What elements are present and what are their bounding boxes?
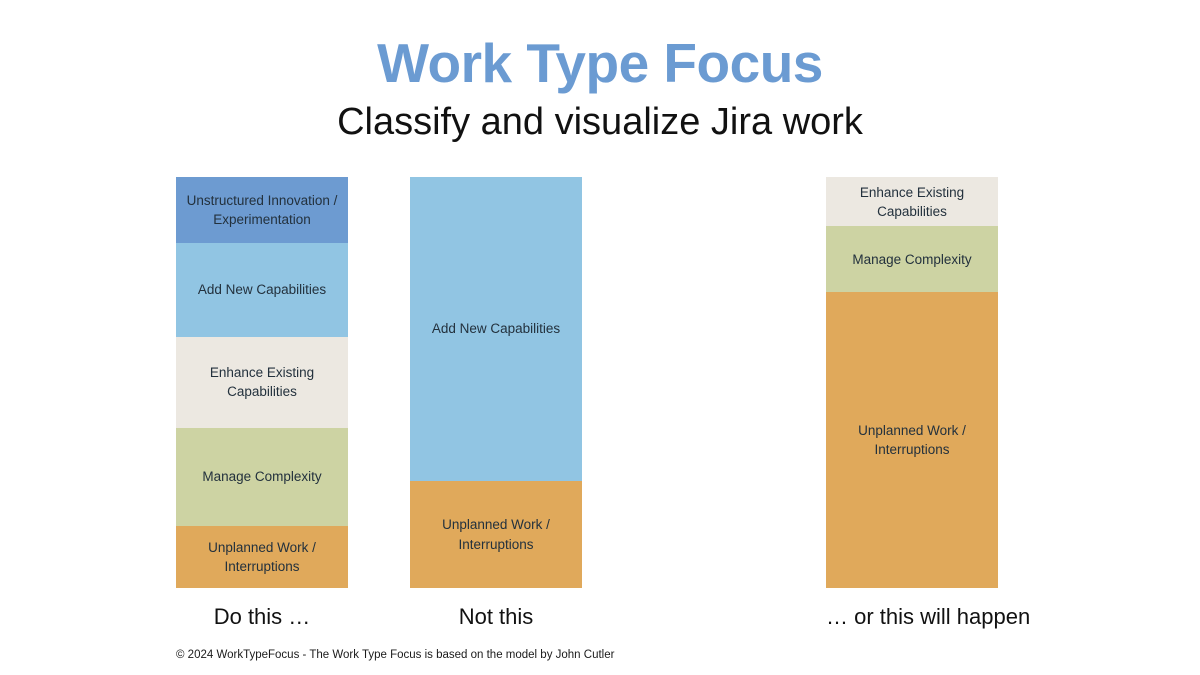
bar-segment-label: Add New Capabilities bbox=[432, 319, 560, 338]
bar-segment[interactable]: Unstructured Innovation / Experimentatio… bbox=[176, 177, 348, 243]
bar-column-1[interactable]: Unstructured Innovation / Experimentatio… bbox=[176, 177, 348, 588]
footer-credit: © 2024 WorkTypeFocus - The Work Type Foc… bbox=[176, 648, 614, 663]
column-caption-1: Do this … bbox=[176, 604, 348, 630]
bar-segment[interactable]: Unplanned Work / Interruptions bbox=[410, 481, 582, 588]
bar-segment-label: Add New Capabilities bbox=[198, 280, 326, 299]
bar-segment[interactable]: Manage Complexity bbox=[176, 428, 348, 527]
bar-segment[interactable]: Manage Complexity bbox=[826, 226, 998, 292]
bar-segment[interactable]: Enhance Existing Capabilities bbox=[176, 337, 348, 427]
bar-segment-label: Unplanned Work / Interruptions bbox=[834, 421, 990, 459]
bar-column-3[interactable]: Enhance Existing CapabilitiesManage Comp… bbox=[826, 177, 998, 588]
bar-segment-label: Unplanned Work / Interruptions bbox=[184, 538, 340, 576]
bar-segment-label: Manage Complexity bbox=[202, 467, 321, 486]
bar-segment[interactable]: Add New Capabilities bbox=[176, 243, 348, 338]
column-caption-label: Not this bbox=[459, 604, 534, 630]
column-caption-3: … or this will happen bbox=[826, 604, 998, 630]
bar-segment[interactable]: Unplanned Work / Interruptions bbox=[826, 292, 998, 588]
bar-segment-label: Unplanned Work / Interruptions bbox=[418, 515, 574, 553]
work-type-focus-chart: Unstructured Innovation / Experimentatio… bbox=[0, 0, 1200, 675]
bar-segment-label: Unstructured Innovation / Experimentatio… bbox=[184, 191, 340, 229]
bar-segment[interactable]: Unplanned Work / Interruptions bbox=[176, 526, 348, 588]
bar-segment[interactable]: Add New Capabilities bbox=[410, 177, 582, 481]
column-caption-2: Not this bbox=[410, 604, 582, 630]
column-caption-label: Do this … bbox=[214, 604, 311, 630]
column-caption-label: … or this will happen bbox=[826, 604, 1030, 630]
bar-column-2[interactable]: Add New CapabilitiesUnplanned Work / Int… bbox=[410, 177, 582, 588]
bar-segment-label: Enhance Existing Capabilities bbox=[834, 183, 990, 221]
bar-segment[interactable]: Enhance Existing Capabilities bbox=[826, 177, 998, 226]
bar-segment-label: Manage Complexity bbox=[852, 250, 971, 269]
bar-segment-label: Enhance Existing Capabilities bbox=[184, 363, 340, 401]
